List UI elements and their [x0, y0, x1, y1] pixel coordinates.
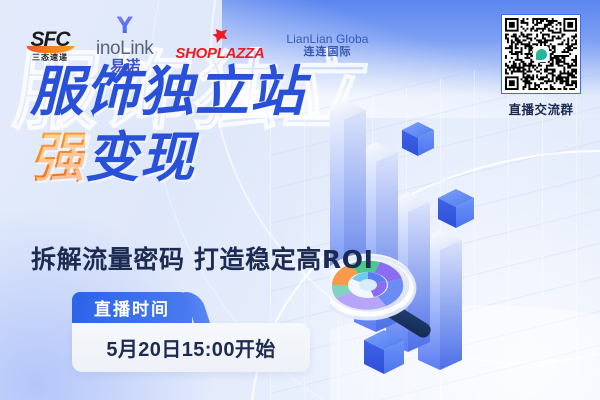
decor-cube-1 — [402, 122, 434, 156]
sfc-swoosh-icon — [25, 46, 74, 53]
logo-sfc: SFC 三态速递 — [26, 29, 74, 62]
yinolink-chinese-name: 易诺 — [110, 59, 140, 74]
promo-poster: 服饰独立 SFC 三态速递 Y inoLink 易诺 SHOPLAZZA Lia… — [0, 0, 600, 400]
decor-cube-2 — [438, 189, 474, 228]
partner-logo-row: SFC 三态速递 Y inoLink 易诺 SHOPLAZZA LianLian… — [26, 16, 369, 74]
qr-code-label: 直播交流群 — [498, 99, 584, 118]
yinolink-wordmark: inoLink — [96, 39, 153, 58]
qr-code-image[interactable] — [501, 14, 581, 94]
lianlian-chinese-name: 连连国际 — [303, 47, 351, 58]
time-card-tab: 直播时间 — [72, 292, 192, 323]
yinolink-y-mark: Y — [117, 16, 133, 38]
logo-yinolink: Y inoLink 易诺 — [96, 16, 153, 74]
sfc-chinese-name: 三态速递 — [32, 54, 68, 62]
headline-line-2-rest: 变现 — [85, 126, 195, 189]
time-card-value: 5月20日15:00开始 — [106, 333, 275, 362]
logo-lianlian: LianLian Globa 连连国际 — [286, 33, 368, 58]
time-card-body: 5月20日15:00开始 — [72, 323, 310, 372]
headline-line-2: 强变现 — [30, 128, 305, 188]
lianlian-wordmark: LianLian Globa — [286, 33, 368, 45]
qr-center-logo-icon — [533, 46, 549, 62]
qr-code-block[interactable]: 直播交流群 — [498, 14, 584, 118]
time-card-tab-label: 直播时间 — [94, 295, 170, 320]
subtitle: 拆解流量密码 打造稳定高ROI — [31, 240, 374, 276]
shoplazza-wordmark: SHOPLAZZA — [175, 46, 264, 61]
headline-highlight-char: 强 — [30, 126, 85, 189]
headline-block: 服饰独立站 强变现 — [30, 62, 305, 188]
livestream-time-card: 直播时间 5月20日15:00开始 — [72, 292, 310, 372]
logo-shoplazza: SHOPLAZZA — [175, 29, 264, 61]
shoplazza-star-icon — [212, 29, 227, 43]
